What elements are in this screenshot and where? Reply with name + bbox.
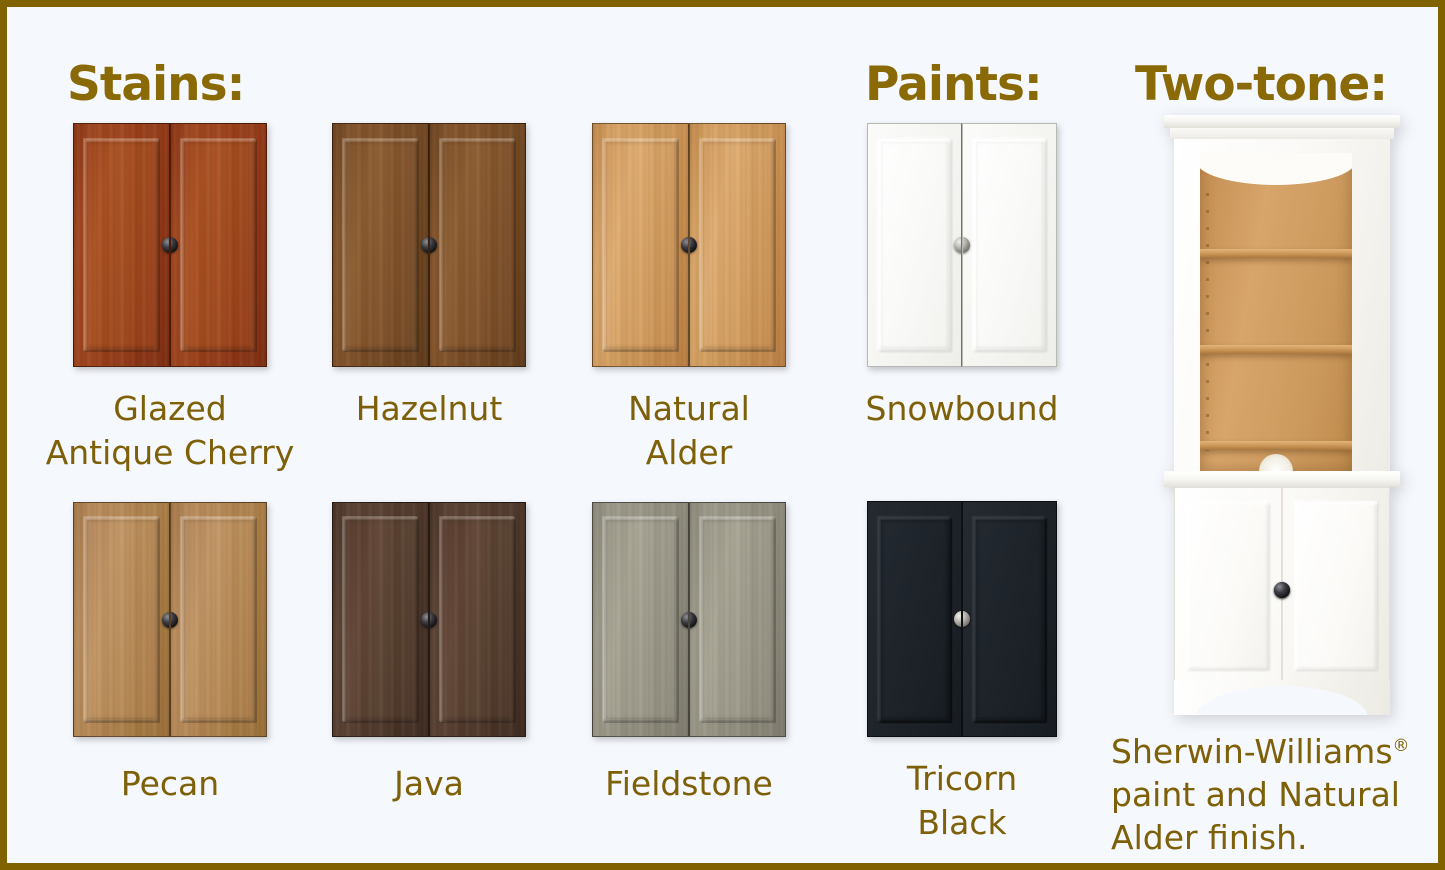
cabinet-door-left (332, 123, 429, 367)
cabinet-sample-pecan[interactable] (73, 502, 267, 737)
door-panel (1295, 502, 1378, 669)
section-heading-two-tone: Two-tone: (1135, 57, 1387, 112)
cabinet-sample-glazed-antique-cherry[interactable] (73, 123, 267, 367)
door-panel (603, 517, 677, 721)
knob-icon (170, 612, 178, 628)
finish-label-natural-alder: Natural Alder (539, 387, 839, 475)
cabinet-door-right (962, 501, 1057, 737)
knob-icon (689, 612, 697, 628)
caption-line-2: paint and Natural (1111, 775, 1400, 814)
door-panel (343, 139, 417, 351)
knob-icon (954, 611, 962, 627)
cabinet-sample-natural-alder[interactable] (592, 123, 786, 367)
knob-icon (689, 237, 697, 253)
cabinet-door-left (592, 502, 689, 737)
door-panel (1187, 502, 1270, 669)
door-panel (440, 139, 514, 351)
knob-icon (962, 237, 970, 253)
door-panel (973, 517, 1046, 722)
knob-icon (421, 237, 429, 253)
caption-line-3: Alder finish. (1111, 818, 1308, 857)
cabinet-door-right (962, 123, 1057, 367)
finish-label-pecan: Pecan (20, 762, 320, 806)
two-tone-bookcase-sample[interactable] (1164, 115, 1400, 715)
finish-label-tricorn-black: Tricorn Black (812, 757, 1112, 845)
cabinet-door-right (429, 502, 526, 737)
cabinet-door-left (73, 502, 170, 737)
door-panel (878, 139, 951, 351)
cabinet-door-right (429, 123, 526, 367)
bookcase-interior (1200, 153, 1352, 471)
door-panel (181, 139, 255, 351)
cabinet-door-right (170, 123, 267, 367)
knob-icon (962, 611, 970, 627)
finish-label-snowbound: Snowbound (812, 387, 1112, 431)
cabinet-sample-snowbound[interactable] (867, 123, 1057, 367)
cabinet-sample-hazelnut[interactable] (332, 123, 526, 367)
finish-label-hazelnut: Hazelnut (279, 387, 579, 431)
section-heading-paints: Paints: (865, 57, 1042, 112)
door-panel (700, 517, 774, 721)
interior-light-icon (1259, 454, 1293, 471)
cabinet-door-right (170, 502, 267, 737)
door-panel (343, 517, 417, 721)
door-panel (84, 517, 158, 721)
knob-icon (170, 237, 178, 253)
cabinet-door-left (332, 502, 429, 737)
cabinet-door-right (1282, 487, 1390, 693)
knob-icon (681, 612, 689, 628)
finish-label-glazed-antique-cherry: Glazed Antique Cherry (20, 387, 320, 475)
knob-icon (162, 612, 170, 628)
knob-icon (954, 237, 962, 253)
cabinet-door-left (73, 123, 170, 367)
cabinet-door-left (867, 123, 962, 367)
door-panel (181, 517, 255, 721)
door-panel (700, 139, 774, 351)
cabinet-door-left (592, 123, 689, 367)
hutch-counter-top (1164, 471, 1400, 487)
cabinet-door-right (689, 502, 786, 737)
knob-icon (421, 612, 429, 628)
finish-options-poster: Stains: Paints: Two-tone: Glazed Antique… (0, 0, 1445, 870)
crown-molding-lower (1170, 128, 1394, 139)
knob-icon (162, 237, 170, 253)
finish-label-fieldstone: Fieldstone (539, 762, 839, 806)
knob-icon (681, 237, 689, 253)
caption-brand: Sherwin-Williams (1111, 732, 1393, 771)
base-cabinet (1174, 487, 1390, 693)
cabinet-door-right (689, 123, 786, 367)
crown-molding (1164, 115, 1400, 128)
door-panel (440, 517, 514, 721)
finish-label-java: Java (279, 762, 579, 806)
bookcase-shelf (1200, 441, 1352, 450)
registered-trademark-icon: ® (1393, 736, 1410, 756)
cabinet-door-left (1174, 487, 1282, 693)
bookcase-shelf (1200, 249, 1352, 258)
cabinet-sample-java[interactable] (332, 502, 526, 737)
cabinet-sample-fieldstone[interactable] (592, 502, 786, 737)
door-panel (84, 139, 158, 351)
arched-toe-kick (1174, 680, 1390, 715)
bookcase-shelf (1200, 345, 1352, 354)
knob-icon (429, 612, 437, 628)
two-tone-caption: Sherwin-Williams® paint and Natural Alde… (1111, 725, 1441, 859)
section-heading-stains: Stains: (67, 57, 244, 112)
cabinet-sample-tricorn-black[interactable] (867, 501, 1057, 737)
door-panel (878, 517, 951, 722)
door-panel (973, 139, 1046, 351)
door-panel (603, 139, 677, 351)
knob-icon (429, 237, 437, 253)
hutch-upper-body (1174, 139, 1390, 471)
arched-valance (1200, 153, 1352, 185)
cabinet-door-left (867, 501, 962, 737)
knob-icon (1274, 582, 1290, 598)
shelf-pin-holes (1206, 193, 1209, 465)
